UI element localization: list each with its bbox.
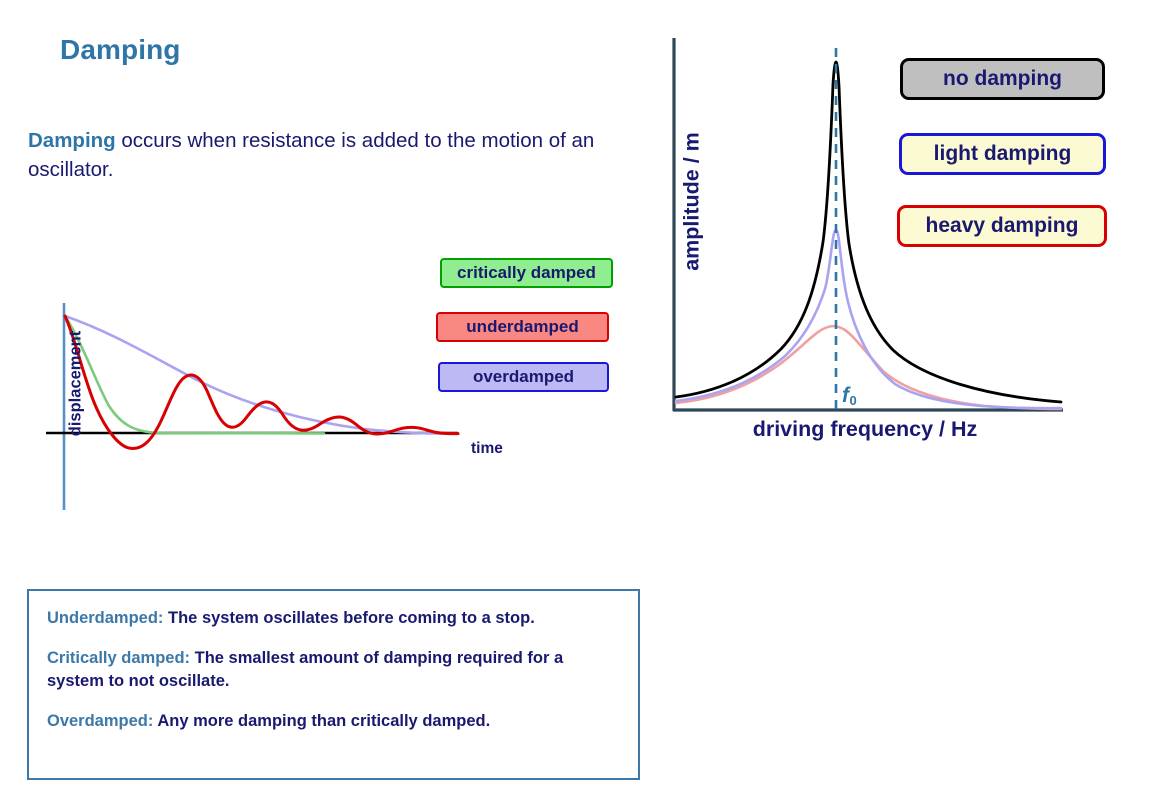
resonance-y-axis-label: amplitude / m <box>680 87 705 317</box>
legend-chip-overdamped[interactable]: overdamped <box>438 362 609 392</box>
legend-chip-no-damping[interactable]: no damping <box>900 58 1105 100</box>
definition-underdamped-text: The system oscillates before coming to a… <box>163 609 534 627</box>
definition-overdamped-term: Overdamped: <box>47 712 153 730</box>
displacement-x-axis-label: time <box>471 440 503 458</box>
intro-keyword: Damping <box>28 129 116 152</box>
legend-chip-heavy-damping[interactable]: heavy damping <box>897 205 1107 247</box>
definition-critically-damped: Critically damped: The smallest amount o… <box>47 647 620 693</box>
displacement-y-axis-label: displacement <box>67 309 86 459</box>
definition-underdamped: Underdamped: The system oscillates befor… <box>47 607 620 630</box>
resonance-frequency-marker-label: f0 <box>842 384 856 408</box>
resonance-x-axis-label: driving frequency / Hz <box>655 417 1075 442</box>
legend-chip-underdamped-label: underdamped <box>466 317 578 337</box>
legend-chip-light-damping[interactable]: light damping <box>899 133 1106 175</box>
legend-chip-no-damping-label: no damping <box>943 67 1062 91</box>
definition-critically-damped-term: Critically damped: <box>47 649 190 667</box>
definition-underdamped-term: Underdamped: <box>47 609 163 627</box>
slide-root: Damping Damping occurs when resistance i… <box>0 0 1173 811</box>
overdamped-curve <box>65 316 456 434</box>
intro-paragraph: Damping occurs when resistance is added … <box>28 126 638 184</box>
definition-overdamped-text: Any more damping than critically damped. <box>153 712 490 730</box>
legend-chip-light-damping-label: light damping <box>934 142 1072 166</box>
resonance-frequency-subscript: 0 <box>850 393 857 408</box>
underdamped-curve <box>65 316 458 448</box>
definition-overdamped: Overdamped: Any more damping than critic… <box>47 710 620 733</box>
heavy-damping-curve <box>676 326 1061 409</box>
legend-chip-critically-damped-label: critically damped <box>457 263 596 283</box>
resonance-frequency-symbol: f <box>842 384 849 407</box>
legend-chip-heavy-damping-label: heavy damping <box>926 214 1079 238</box>
legend-chip-overdamped-label: overdamped <box>473 367 574 387</box>
legend-chip-critically-damped[interactable]: critically damped <box>440 258 613 288</box>
page-title: Damping <box>60 34 180 66</box>
definitions-box: Underdamped: The system oscillates befor… <box>27 589 640 780</box>
legend-chip-underdamped[interactable]: underdamped <box>436 312 609 342</box>
